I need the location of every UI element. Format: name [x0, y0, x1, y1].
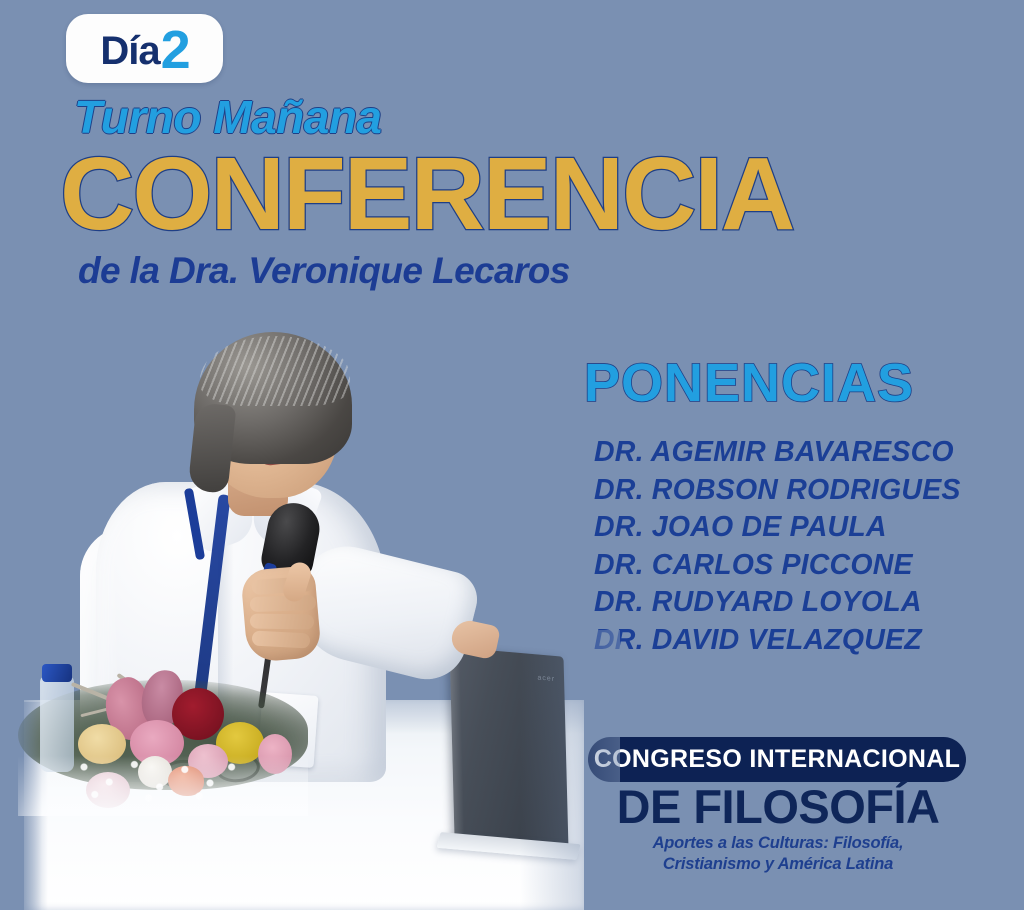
congress-tagline-line-1: Aportes a las Culturas: Filosofía,: [588, 833, 968, 854]
conference-poster: Día 2 Turno Mañana CONFERENCIA de la Dra…: [0, 0, 1024, 910]
list-item: DR. DAVID VELAZQUEZ: [594, 622, 961, 660]
day-badge: Día 2: [66, 14, 223, 83]
photo-right-fade: [520, 630, 620, 910]
speaker-photo: acer: [0, 330, 600, 910]
list-item: DR. AGEMIR BAVARESCO: [594, 434, 961, 472]
speaker-list: DR. AGEMIR BAVARESCO DR. ROBSON RODRIGUE…: [594, 434, 961, 659]
hair-highlights: [200, 336, 350, 406]
list-item: DR. CARLOS PICCONE: [594, 547, 961, 585]
congress-name-pill-label: CONGRESO INTERNACIONAL: [594, 745, 960, 774]
day-badge-prefix: Día: [100, 31, 159, 71]
talks-section-title: PONENCIAS: [584, 356, 914, 410]
shift-label: Turno Mañana: [74, 94, 382, 140]
list-item: DR. JOAO DE PAULA: [594, 509, 961, 547]
congress-logo: CONGRESO INTERNACIONAL DE FILOSOFÍA Apor…: [588, 737, 968, 875]
photo-left-fade: [0, 330, 42, 910]
congress-name-pill: CONGRESO INTERNACIONAL: [588, 737, 966, 782]
finger: [250, 613, 314, 629]
congress-tagline-line-2: Cristianismo y América Latina: [588, 854, 968, 875]
page-subtitle: de la Dra. Veronique Lecaros: [78, 252, 570, 289]
congress-subject: DE FILOSOFÍA: [588, 783, 968, 831]
bouquet-bottom-fade: [18, 756, 308, 816]
flower-bouquet: [18, 660, 308, 800]
finger: [252, 630, 311, 648]
list-item: DR. RUDYARD LOYOLA: [594, 584, 961, 622]
list-item: DR. ROBSON RODRIGUES: [594, 472, 961, 510]
congress-tagline: Aportes a las Culturas: Filosofía, Crist…: [588, 833, 968, 875]
finger: [250, 595, 316, 612]
water-bottle-cap: [42, 664, 72, 682]
day-badge-number: 2: [161, 23, 189, 77]
page-title: CONFERENCIA: [60, 140, 793, 248]
